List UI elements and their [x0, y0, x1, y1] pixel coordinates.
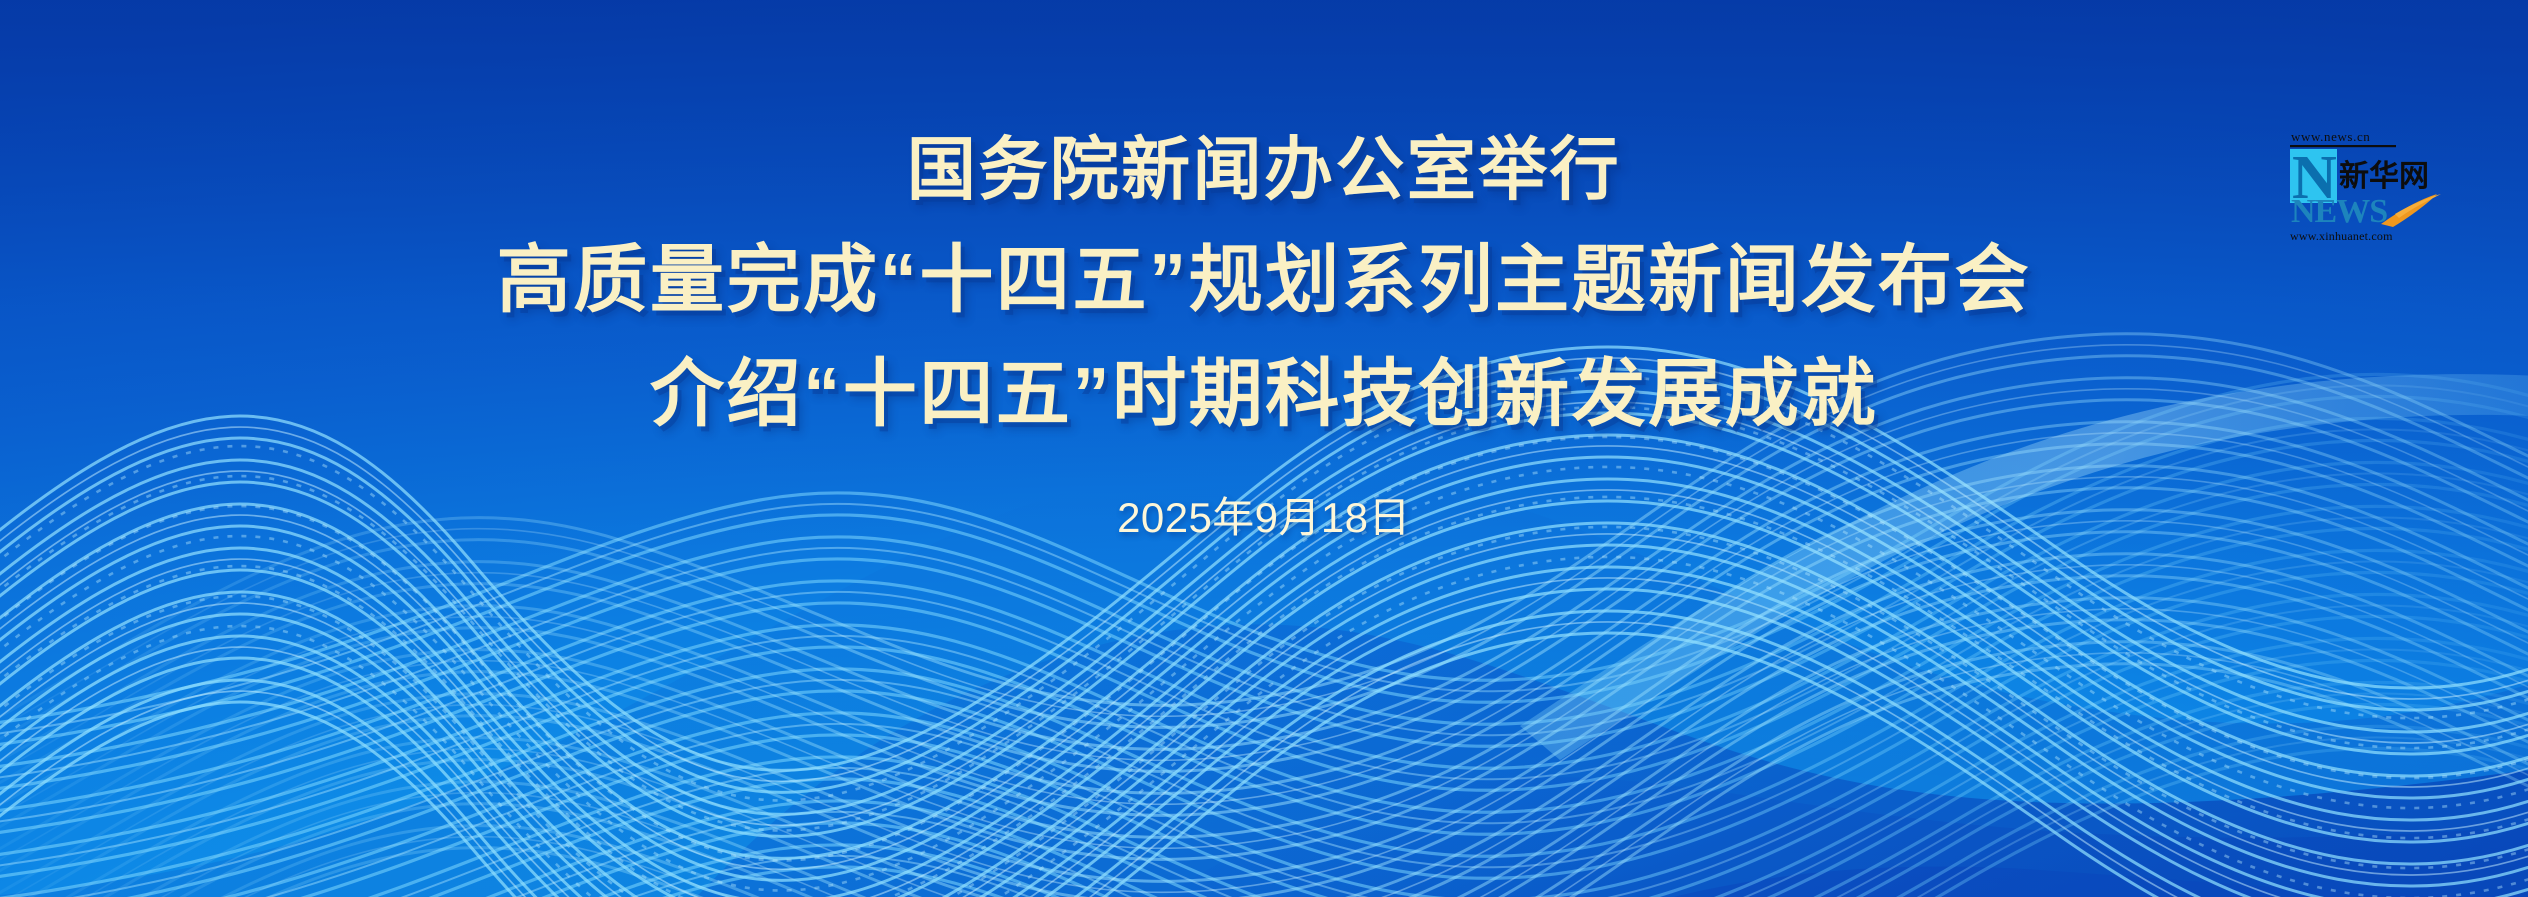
- press-conference-banner: 国务院新闻办公室举行 高质量完成“十四五”规划系列主题新闻发布会 介绍“十四五”…: [0, 0, 2528, 897]
- logo-mark-word: NEWS: [2291, 193, 2387, 230]
- title-line-2: 高质量完成“十四五”规划系列主题新闻发布会: [497, 224, 2031, 336]
- xinhuanet-logo: www.news.cn N NEWS 新华网 www.xinhuanet.com: [2277, 128, 2473, 246]
- title-line-3: 介绍“十四五”时期科技创新发展成就: [650, 338, 1878, 450]
- title-line-1: 国务院新闻办公室举行: [907, 118, 1621, 222]
- logo-top-url: www.news.cn: [2291, 129, 2370, 144]
- logo-brand-cn: 新华网: [2339, 159, 2429, 194]
- xinhuanet-logo-graphic: www.news.cn N NEWS 新华网 www.xinhuanet.com: [2277, 128, 2473, 246]
- title-block: 国务院新闻办公室举行 高质量完成“十四五”规划系列主题新闻发布会 介绍“十四五”…: [0, 118, 2528, 545]
- logo-bottom-url: www.xinhuanet.com: [2290, 229, 2393, 243]
- event-date: 2025年9月18日: [1117, 484, 1411, 545]
